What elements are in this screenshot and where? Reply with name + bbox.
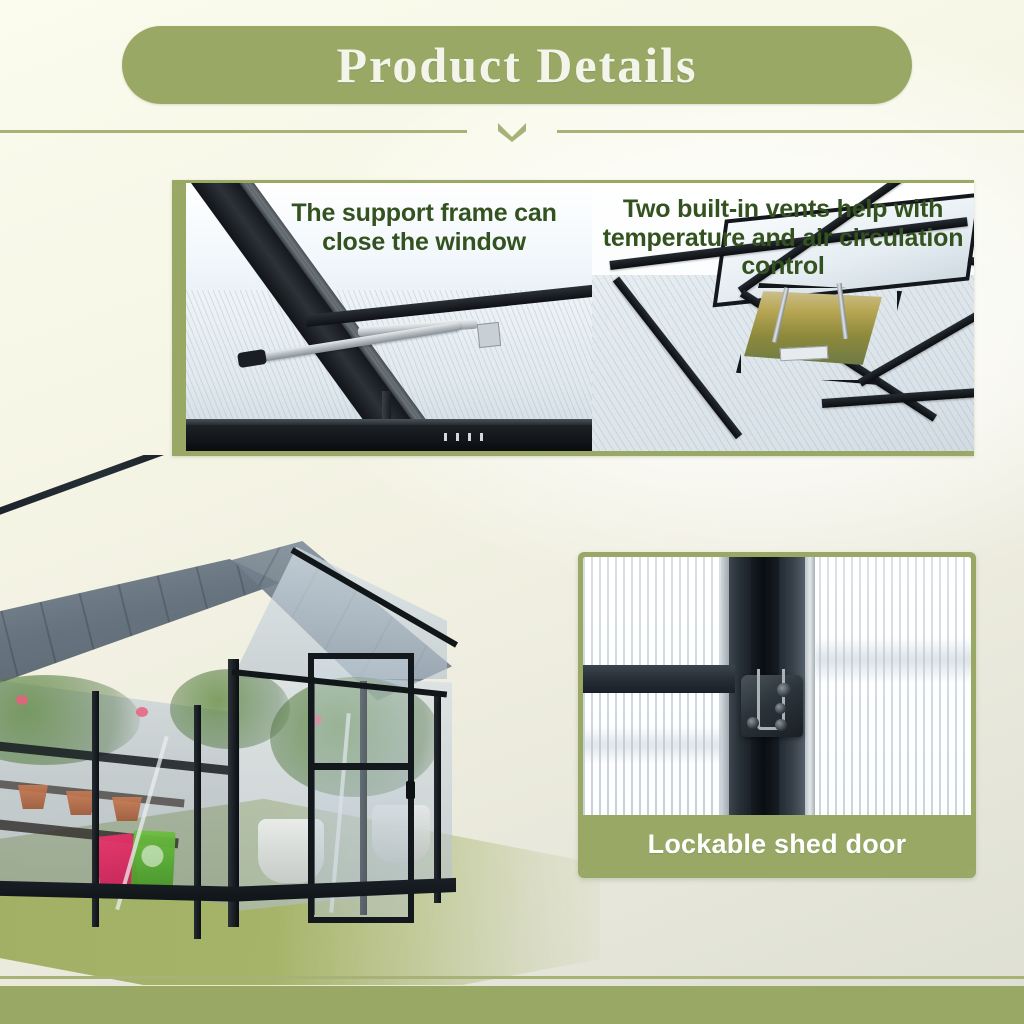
product-details-page: Product Details — [0, 0, 1024, 1024]
terracotta-pot-3 — [112, 797, 142, 821]
latch-screw-2 — [775, 703, 786, 714]
lockable-door-panel: Lockable shed door — [578, 552, 976, 878]
door-latch-hardware — [741, 675, 803, 737]
lockable-door-caption: Lockable shed door — [648, 829, 907, 860]
divider-line-right — [557, 130, 1024, 133]
latch-screw-4 — [747, 717, 759, 729]
door-reflection-band-right — [815, 637, 971, 683]
window-stay-bracket — [477, 322, 501, 348]
chevron-down-icon — [495, 120, 529, 142]
lockable-door-caption-bar: Lockable shed door — [583, 815, 971, 873]
greenhouse-structure — [0, 463, 540, 933]
vents-panel: Two built-in vents help with temperature… — [592, 183, 974, 451]
terracotta-pot-1 — [18, 785, 48, 809]
divider-gap-left — [467, 130, 495, 133]
greenhouse-hero-image — [0, 455, 600, 985]
lockable-door-image — [583, 557, 971, 815]
wall-mullion-7 — [434, 691, 441, 903]
header-divider — [0, 120, 1024, 142]
vents-caption: Two built-in vents help with temperature… — [592, 183, 974, 281]
page-title: Product Details — [337, 36, 698, 94]
greenhouse-door-rail — [308, 763, 414, 770]
window-fasteners — [444, 433, 486, 441]
door-cross-rail — [583, 665, 735, 693]
divider-line-left — [0, 130, 467, 133]
roof-ridge — [0, 455, 260, 564]
door-trim-right — [805, 557, 815, 815]
interior-bloom-1 — [16, 695, 28, 705]
divider-gap-right — [529, 130, 557, 133]
footer-divider-line — [0, 976, 1024, 979]
vent-label-plate — [780, 346, 829, 361]
top-feature-block: The support frame can close the window — [172, 180, 974, 456]
support-frame-caption: The support frame can close the window — [186, 183, 592, 256]
page-header: Product Details — [0, 0, 1024, 132]
interior-bloom-2 — [136, 707, 148, 717]
support-frame-panel: The support frame can close the window — [186, 183, 592, 451]
latch-screw-3 — [775, 719, 787, 731]
door-polycarbonate-right — [803, 557, 971, 815]
latch-screw-1 — [777, 683, 791, 697]
top-feature-inner: The support frame can close the window — [186, 183, 974, 451]
wall-mullion-4 — [194, 705, 201, 939]
title-pill: Product Details — [122, 26, 912, 104]
greenhouse-door-handle — [406, 781, 415, 799]
door-reflection-band-left — [583, 727, 723, 763]
window-bottom-rail — [186, 425, 592, 451]
footer-band — [0, 986, 1024, 1024]
lockable-door-inner: Lockable shed door — [583, 557, 971, 873]
